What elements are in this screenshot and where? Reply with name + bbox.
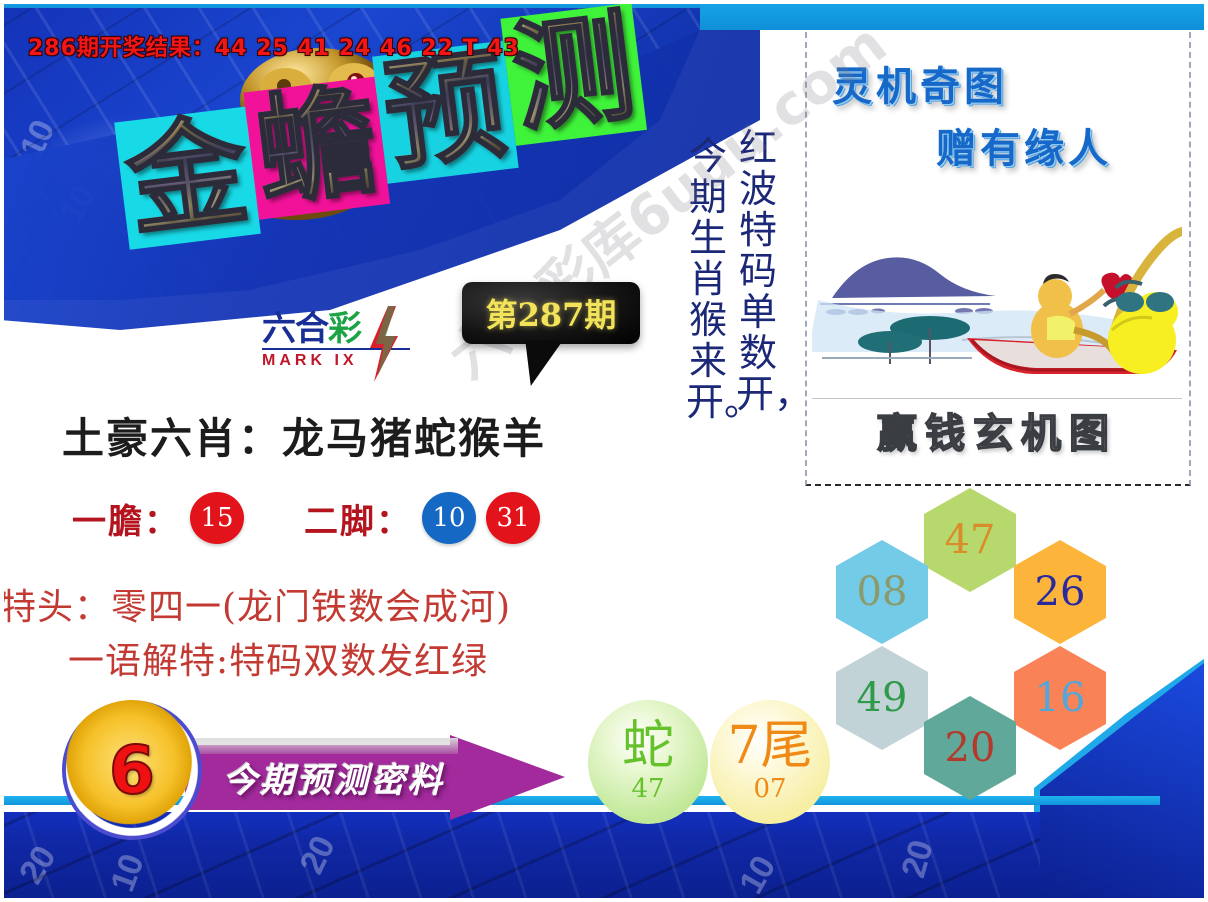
tail-sphere-name: 7尾 (727, 720, 812, 772)
hexagon-number[interactable]: 26 (1014, 540, 1106, 644)
background-ball-number: 20 (12, 840, 64, 891)
main-title: 金 蟾 预 测 (120, 90, 648, 218)
yiyu-line: 一语解特:特码双数发红绿 (68, 632, 488, 684)
tetou-line: 特头：零四一(龙门铁数会成河) (0, 578, 511, 630)
hexagon-value: 08 (857, 569, 908, 615)
logo-char-2: 合 (295, 309, 328, 349)
jiao-ball-1: 10 (422, 492, 476, 544)
title-char-3: 预 (372, 41, 519, 184)
title-char-4: 测 (500, 3, 647, 146)
dan-jiao-row: 一膽： 15 二脚： 10 31 (72, 492, 540, 544)
background-ball-number: 10 (732, 850, 784, 901)
hexagon-number[interactable]: 08 (836, 540, 928, 644)
right-panel-title-line2: 赠有缘人 (936, 116, 1178, 174)
right-panel-footer: 赢钱玄机图 (812, 398, 1182, 461)
hexagon-value: 20 (945, 725, 996, 771)
zodiac-sphere-green: 蛇 47 (588, 700, 708, 824)
zodiac-sphere-name: 蛇 (622, 720, 674, 772)
arrow-banner-gloss (190, 738, 458, 754)
tail-sphere-yellow: 7尾 07 (710, 700, 830, 824)
hexagon-value: 16 (1035, 675, 1086, 721)
background-ball-number: 10 (103, 850, 152, 897)
arrow-banner-label: 今期预测密料 (223, 753, 445, 802)
issue-number-badge: 第287期 (462, 282, 640, 344)
hexagon-number[interactable]: 47 (924, 488, 1016, 592)
jiao-ball-2: 31 (486, 492, 540, 544)
mark-six-logo: 六合彩 MARK IX (262, 312, 422, 386)
cyan-strip-top-right (700, 0, 1208, 30)
couplet-right-column: 红波特码单数开， (736, 128, 780, 415)
couplet-right-text: 红波特码单数开， (736, 128, 780, 415)
dan-ball: 15 (190, 492, 244, 544)
six-ball-number: 6 (109, 732, 155, 809)
boat-scene-illustration (812, 180, 1182, 395)
right-panel-title: 灵机奇图 赠有缘人 (818, 54, 1178, 174)
lightning-bolt-icon (366, 306, 400, 382)
hexagon-number[interactable]: 16 (1014, 646, 1106, 750)
poster-root: 10 20 10 20 10 286期开奖结果：44 25 41 24 46 2… (0, 0, 1208, 902)
hexagon-number-group: 47 08 26 49 16 20 (828, 488, 1138, 788)
couplet-left-text: 今期生肖猴来开。 (686, 136, 730, 423)
couplet-left-column: 今期生肖猴来开。 (686, 136, 730, 423)
draw-result-line: 286期开奖结果：44 25 41 24 46 22 T 43 (28, 30, 520, 62)
logo-char-1: 六 (262, 309, 295, 349)
title-char-2: 蟾 (243, 77, 390, 220)
right-panel-footer-title: 赢钱玄机图 (877, 401, 1117, 459)
hexagon-value: 49 (857, 675, 908, 721)
issue-number-text: 第287期 (486, 290, 617, 336)
title-char-1: 金 (114, 107, 261, 250)
hexagon-value: 47 (945, 517, 996, 563)
six-ball-badge: 6 (62, 700, 202, 840)
zodiac-sphere-number: 47 (631, 774, 664, 804)
background-ball-number: 20 (293, 831, 344, 880)
dan-label: 一膽： (72, 494, 180, 543)
hexagon-number[interactable]: 20 (924, 696, 1016, 800)
hexagon-number[interactable]: 49 (836, 646, 928, 750)
six-zodiac-line: 土豪六肖：龙马猪蛇猴羊 (62, 405, 546, 466)
right-panel-title-line1: 灵机奇图 (832, 54, 1178, 112)
logo-char-3: 彩 (328, 309, 361, 349)
tail-sphere-number: 07 (753, 774, 786, 804)
background-ball-number: 20 (894, 837, 941, 882)
jiao-label: 二脚： (304, 494, 412, 543)
hexagon-value: 26 (1035, 569, 1086, 615)
